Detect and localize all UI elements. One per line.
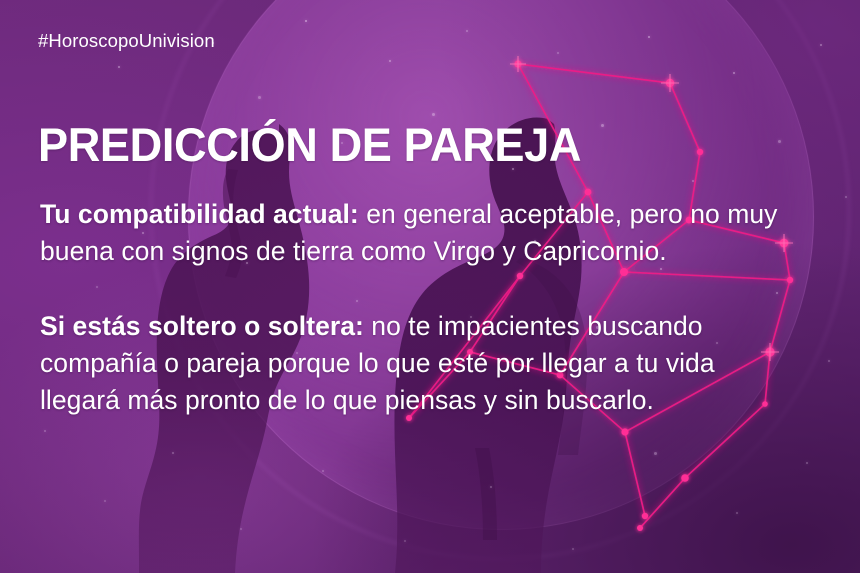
paragraph-compatibility: Tu compatibilidad actual: en general ace… xyxy=(40,196,780,270)
paragraph-compatibility-lead: Tu compatibilidad actual: xyxy=(40,199,359,229)
paragraph-single-lead: Si estás soltero o soltera: xyxy=(40,311,364,341)
horoscope-card: #HoroscopoUnivision PREDICCIÓN DE PAREJA… xyxy=(0,0,860,573)
card-content: #HoroscopoUnivision PREDICCIÓN DE PAREJA… xyxy=(0,0,860,573)
paragraph-single: Si estás soltero o soltera: no te impaci… xyxy=(40,308,780,419)
page-title: PREDICCIÓN DE PAREJA xyxy=(38,121,581,168)
hashtag-label: #HoroscopoUnivision xyxy=(38,30,215,52)
prediction-body: Tu compatibilidad actual: en general ace… xyxy=(40,196,780,419)
